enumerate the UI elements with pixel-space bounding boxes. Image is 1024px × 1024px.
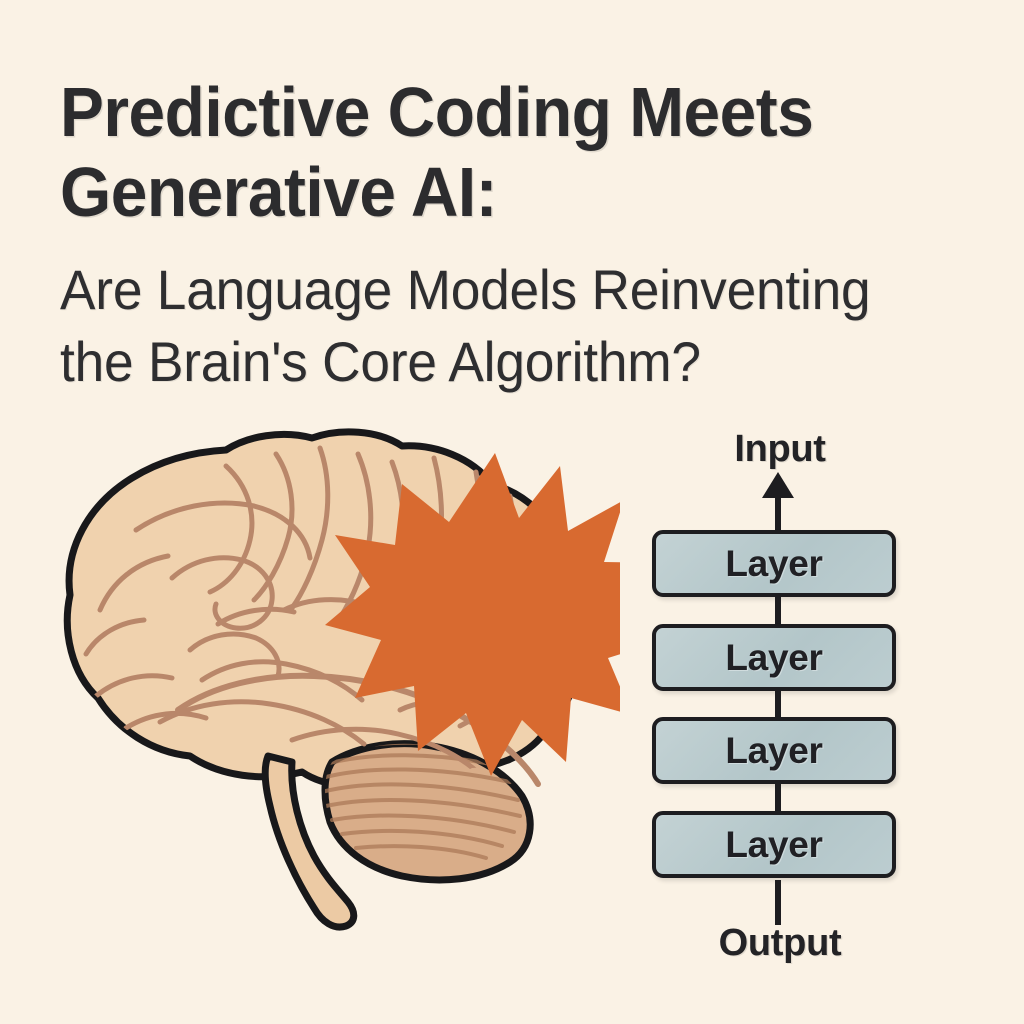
- layer-box-2[interactable]: Layer: [652, 624, 896, 691]
- layer-box-3[interactable]: Layer: [652, 717, 896, 784]
- poster-canvas: Predictive Coding Meets Generative AI: A…: [0, 0, 1024, 1024]
- title-block: Predictive Coding Meets Generative AI: A…: [60, 72, 960, 398]
- connector-line-output: [775, 880, 781, 925]
- layer-box-label: Layer: [725, 730, 822, 772]
- connector-line-1: [775, 597, 781, 625]
- input-label: Input: [630, 428, 930, 471]
- layer-box-label: Layer: [725, 824, 822, 866]
- brain-svg: [40, 410, 620, 940]
- connector-line-2: [775, 690, 781, 718]
- layer-box-label: Layer: [725, 637, 822, 679]
- connector-line-3: [775, 783, 781, 811]
- page-title: Predictive Coding Meets Generative AI:: [60, 72, 906, 232]
- layer-box-1[interactable]: Layer: [652, 530, 896, 597]
- page-subtitle: Are Language Models Reinventing the Brai…: [60, 254, 915, 398]
- brain-illustration-container: [40, 410, 620, 940]
- output-label: Output: [630, 922, 930, 965]
- neural-network-diagram: Input Layer Layer Layer Layer Output: [630, 410, 930, 990]
- layer-box-4[interactable]: Layer: [652, 811, 896, 878]
- layer-box-label: Layer: [725, 543, 822, 585]
